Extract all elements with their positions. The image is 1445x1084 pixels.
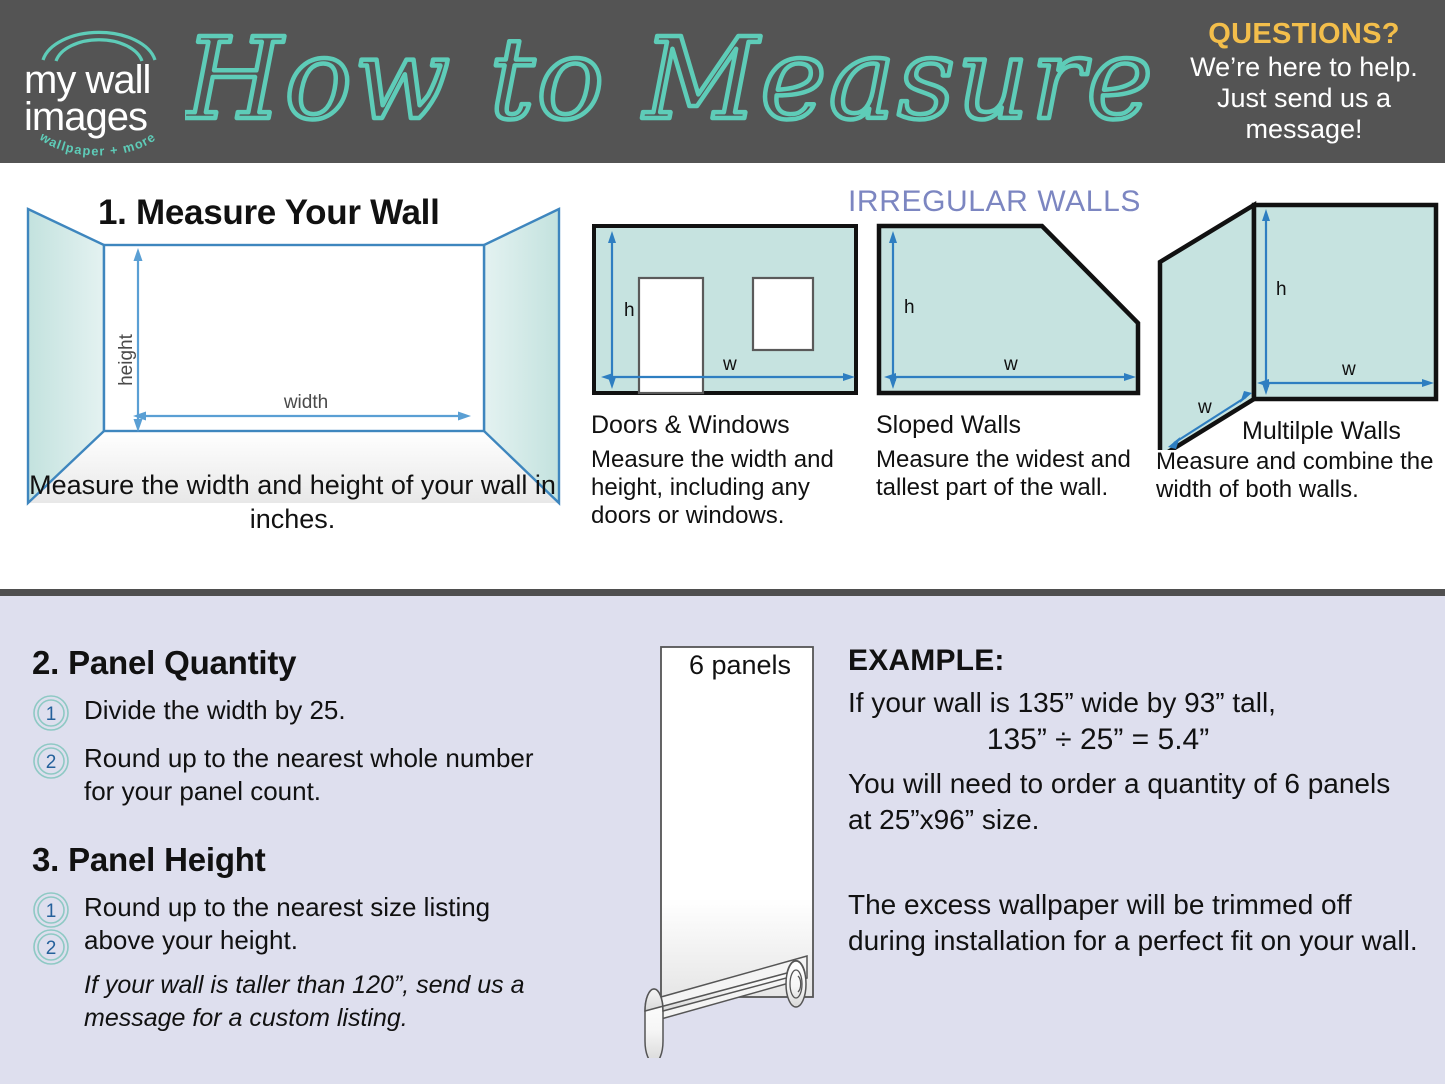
example-spacer [848, 838, 1418, 880]
card-desc: Measure and combine the width of both wa… [1156, 448, 1442, 504]
numbered-badge-icon: 1 [32, 694, 70, 732]
step2-item: 2 Round up to the nearest whole number f… [32, 742, 552, 808]
step3-item: 1 2 Round up to the nearest size listing… [32, 891, 552, 957]
card-desc: Measure the width and height, including … [591, 446, 859, 530]
step1-caption: Measure the width and height of your wal… [20, 468, 565, 536]
irregular-card-multiple-walls: h w w Multilple Walls Measure and combin… [1156, 185, 1442, 504]
section-panel-calculation: 2. Panel Quantity 1 Divide the width by … [0, 596, 1445, 1084]
wallpaper-roll-illustration [637, 643, 842, 1058]
questions-body: We’re here to help. Just send us a messa… [1179, 52, 1429, 145]
card-desc: Measure the widest and tallest part of t… [876, 446, 1144, 502]
logo-line-2: images [24, 97, 147, 137]
step2-block: 2. Panel Quantity 1 Divide the width by … [32, 644, 552, 808]
card-name: Sloped Walls [876, 411, 1144, 440]
multiple-walls-diagram: h w w [1156, 185, 1442, 450]
irregular-walls-heading: IRREGULAR WALLS [848, 185, 1141, 219]
step3-title: 3. Panel Height [32, 841, 552, 879]
doors-windows-diagram: h w [591, 223, 859, 401]
irregular-card-doors-windows: h w Doors & Windows Measure the width an… [591, 223, 859, 530]
label-h: h [624, 300, 635, 321]
step3-note: If your wall is taller than 120”, send u… [32, 969, 552, 1035]
sloped-wall-diagram: h w [876, 223, 1144, 401]
logo-tagline: wallpaper + more [18, 134, 178, 163]
badge-number: 2 [46, 752, 57, 773]
header-bar: my wall images wallpaper + more How to M… [0, 0, 1445, 163]
numbered-badge-icon: 1 [32, 891, 70, 929]
label-width: width [283, 392, 328, 413]
page-title-script: How to Measure & Order [185, 8, 1185, 156]
step3-item-text: Round up to the nearest size listing abo… [84, 891, 552, 957]
irregular-card-sloped-walls: h w Sloped Walls Measure the widest and … [876, 223, 1144, 502]
label-h: h [904, 297, 915, 318]
step2-item-text: Round up to the nearest whole number for… [84, 742, 552, 808]
roll-label: 6 panels [655, 650, 825, 681]
questions-heading: QUESTIONS? [1179, 18, 1429, 51]
example-equation: 135” ÷ 25” = 5.4” [848, 721, 1418, 759]
badge-number: 1 [46, 901, 57, 922]
step2-item-text: Divide the width by 25. [84, 694, 552, 727]
infographic-page: my wall images wallpaper + more How to M… [0, 0, 1445, 1084]
logo-line-1: my wall [24, 60, 150, 100]
section-divider [0, 589, 1445, 596]
page-title-text: How to Measure & Order [185, 15, 1175, 145]
step2-title: 2. Panel Quantity [32, 644, 552, 682]
example-block: EXAMPLE: If your wall is 135” wide by 93… [848, 644, 1418, 959]
svg-text:wallpaper + more: wallpaper + more [36, 134, 158, 159]
brand-logo: my wall images wallpaper + more [18, 30, 178, 155]
example-line-1: If your wall is 135” wide by 93” tall, [848, 685, 1418, 721]
step1-title: 1. Measure Your Wall [98, 193, 440, 233]
example-line-2: You will need to order a quantity of 6 p… [848, 766, 1418, 838]
label-height: height [116, 333, 137, 385]
label-w: w [722, 354, 737, 375]
badge-number: 1 [46, 704, 57, 725]
section-measure-your-wall: height width 1. Measure Your Wall Measur… [0, 163, 1445, 589]
card-name: Doors & Windows [591, 411, 859, 440]
label-w: w [1341, 359, 1356, 380]
example-heading: EXAMPLE: [848, 644, 1418, 678]
example-line-3: The excess wallpaper will be trimmed off… [848, 887, 1418, 959]
label-w: w [1197, 397, 1212, 418]
numbered-badge-icon: 2 [32, 742, 70, 780]
label-h: h [1276, 279, 1287, 300]
badge-number: 2 [46, 938, 57, 959]
step3-block: 3. Panel Height 1 2 Round up to the near… [32, 841, 552, 1035]
questions-block: QUESTIONS? We’re here to help. Just send… [1179, 18, 1429, 145]
numbered-badge-icon: 2 [32, 928, 70, 966]
step2-item: 1 Divide the width by 25. [32, 694, 552, 734]
label-w: w [1003, 354, 1018, 375]
